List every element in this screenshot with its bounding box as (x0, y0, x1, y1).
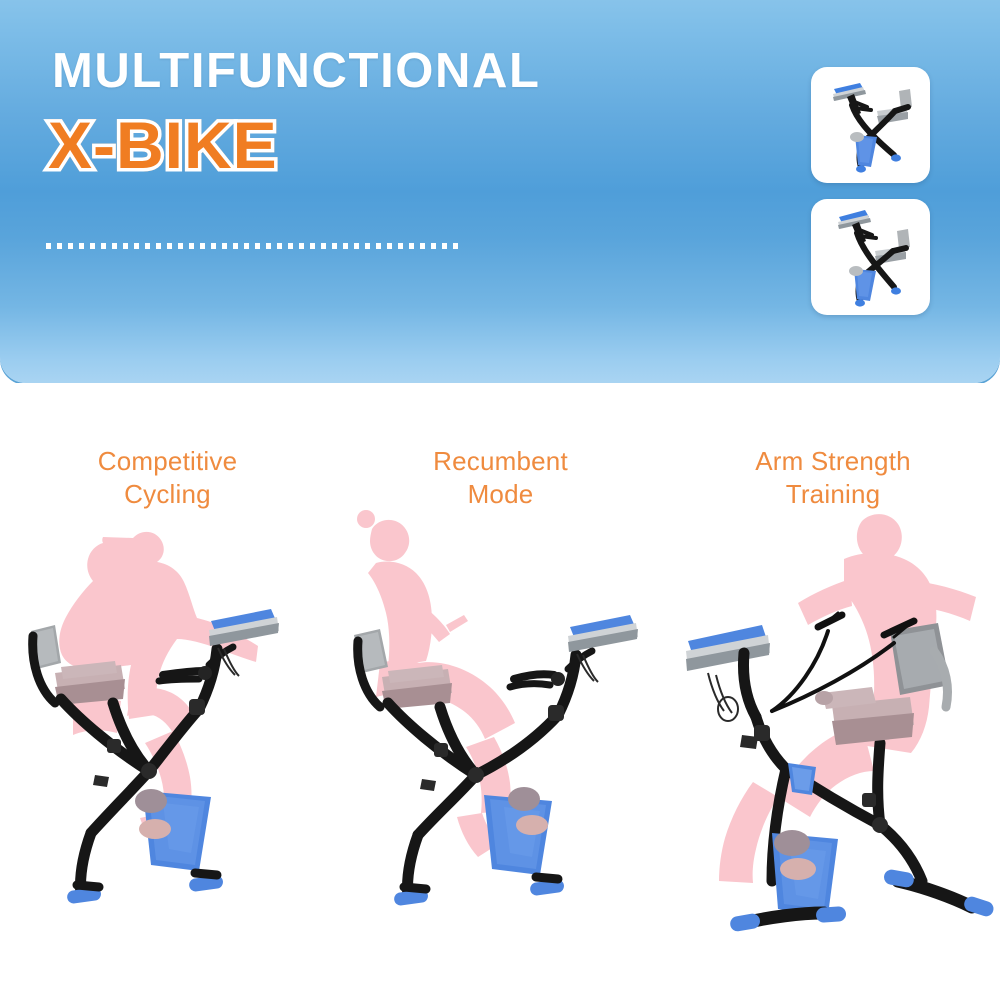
hero-banner-inner: MULTIFUNCTIONAL X-BIKE (0, 0, 1000, 383)
arm-strength-training-art (666, 503, 1000, 953)
dotted-divider (46, 243, 458, 249)
mode-panel-competitive-cycling: Competitive Cycling (0, 383, 335, 1000)
x-bike-upright-icon (811, 67, 930, 183)
page-title: MULTIFUNCTIONAL (52, 47, 541, 96)
thumbnail-gallery (811, 67, 930, 331)
handlebar (163, 671, 203, 675)
x-bike-angled-icon (811, 199, 930, 315)
recumbent-mode-art (336, 503, 666, 923)
arm-strength-training-illustration (666, 503, 1000, 953)
mode-label-line-1: Competitive (0, 445, 335, 478)
mode-label-recumbent-mode: Recumbent Mode (333, 445, 668, 510)
mode-panel-recumbent-mode: Recumbent Mode (333, 383, 668, 1000)
recumbent-mode-illustration (333, 503, 668, 923)
mode-label-arm-strength-training: Arm Strength Training (666, 445, 1000, 510)
hero-banner: MULTIFUNCTIONAL X-BIKE (0, 0, 1000, 383)
mode-label-line-1: Arm Strength (666, 445, 1000, 478)
x-bike-upright-thumbnail[interactable] (811, 67, 930, 183)
mode-label-line-1: Recumbent (333, 445, 668, 478)
display-console (568, 615, 638, 652)
mode-gallery: Competitive Cycling (0, 383, 1000, 1000)
pedal (508, 787, 540, 811)
x-bike-angled-thumbnail[interactable] (811, 199, 930, 315)
competitive-cycling-illustration (0, 503, 335, 923)
pedal (135, 789, 167, 813)
mode-panel-arm-strength-training: Arm Strength Training (666, 383, 1000, 1000)
pedal (774, 830, 810, 856)
display-console (686, 625, 770, 671)
mode-label-competitive-cycling: Competitive Cycling (0, 445, 335, 510)
product-name-title: X-BIKE (48, 112, 278, 178)
competitive-cycling-art (3, 503, 333, 923)
